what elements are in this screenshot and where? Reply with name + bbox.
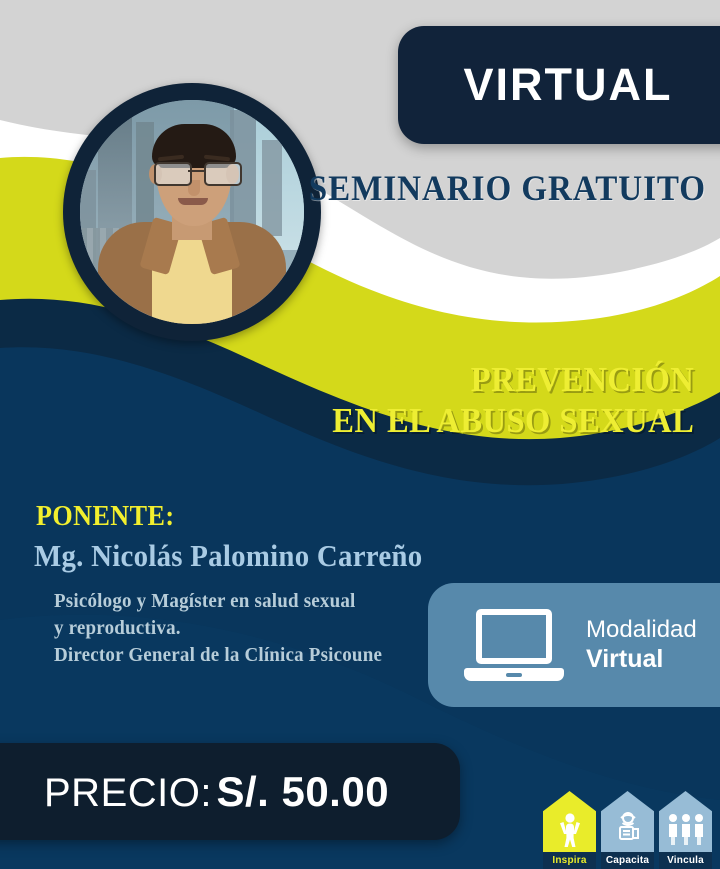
virtual-badge-label: VIRTUAL <box>464 59 673 111</box>
three-people-icon <box>659 809 712 851</box>
pillar-label: Capacita <box>601 855 654 866</box>
laptop-icon <box>464 609 564 681</box>
pillar-capacita: Capacita <box>601 791 654 869</box>
page-title: PREVENCIÓN EN EL ABUSO SEXUAL <box>332 360 694 442</box>
price-panel: PRECIO: S/. 50.00 <box>0 743 460 840</box>
speaker-role-label: PONENTE: <box>36 500 174 533</box>
pillar-vincula: Vincula <box>659 791 712 869</box>
speaker-name: Mg. Nicolás Palomino Carreño <box>34 538 422 574</box>
modality-label: Modalidad <box>586 616 697 645</box>
title-line-1: PREVENCIÓN <box>332 360 694 401</box>
credential-line: Psicólogo y Magíster en salud sexual <box>54 588 382 615</box>
modality-value: Virtual <box>586 644 697 674</box>
credential-line: y reproductiva. <box>54 615 382 642</box>
virtual-badge: VIRTUAL <box>398 26 720 144</box>
pillar-badges: Inspira Capacita <box>543 791 712 869</box>
credential-line: Director General de la Clínica Psicoune <box>54 642 382 669</box>
price-amount: S/. 50.00 <box>216 768 389 815</box>
price-text: PRECIO: S/. 50.00 <box>44 768 389 816</box>
modality-text: Modalidad Virtual <box>586 616 697 675</box>
avatar <box>80 100 304 324</box>
price-label: PRECIO: <box>44 771 212 815</box>
pillar-label: Vincula <box>659 855 712 866</box>
seminar-kicker: SEMINARIO GRATUITO <box>56 167 706 209</box>
pillar-inspira: Inspira <box>543 791 596 869</box>
speaker-photo-ring <box>63 83 321 341</box>
person-raising-arms-icon <box>543 809 596 851</box>
title-line-2: EN EL ABUSO SEXUAL <box>332 401 694 442</box>
modality-panel: Modalidad Virtual <box>428 583 720 707</box>
flyer-poster: VIRTUAL SEMINARIO GRATUITO PREVENCIÓN EN… <box>0 0 720 869</box>
person-studying-icon <box>601 809 654 851</box>
speaker-credentials: Psicólogo y Magíster en salud sexual y r… <box>54 588 382 668</box>
pillar-label: Inspira <box>543 855 596 866</box>
